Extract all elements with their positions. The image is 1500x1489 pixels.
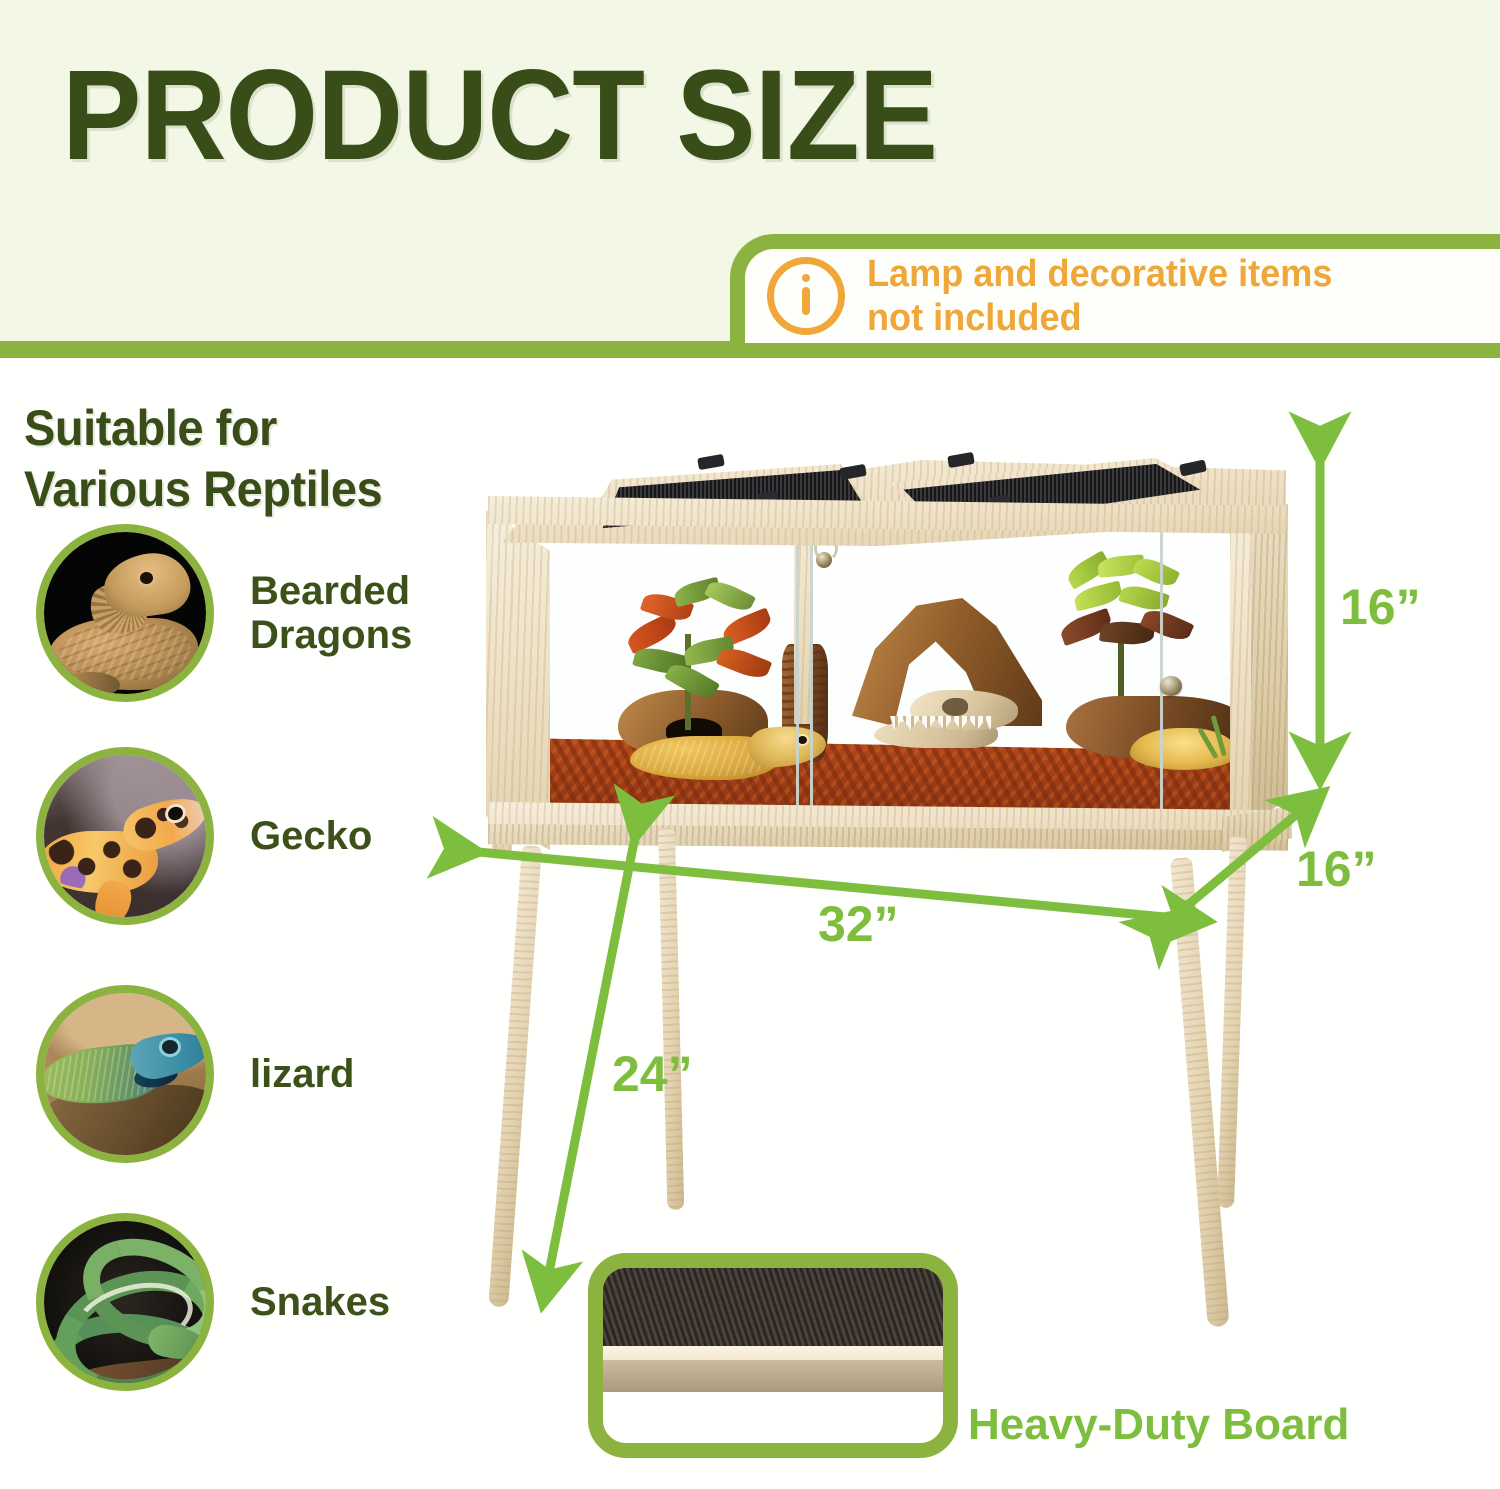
lizard-photo [36,985,214,1163]
not-included-notice: Lamp and decorative items not included [730,234,1500,358]
leg [488,845,542,1307]
artificial-plant-orange-green [622,578,772,698]
door-knob[interactable] [1160,676,1182,696]
glass-edge [796,518,799,828]
heavy-duty-board-caption: Heavy-Duty Board [968,1400,1349,1450]
hinge-icon [697,454,725,470]
info-circle-icon [767,257,845,335]
board-ribbed-surface [601,1266,947,1348]
gecko-photo [36,747,214,925]
reptile-label: Snakes [250,1280,390,1324]
leg [1217,836,1247,1208]
reptile-label: Gecko [250,814,372,858]
heavy-duty-board-inset [588,1253,958,1458]
dinosaur-skull-ornament [868,690,1018,752]
reptile-label: lizard [250,1052,354,1096]
bearded-dragon-photo [36,524,214,702]
list-item: Snakes [36,1213,476,1391]
product-photo-terrarium [470,438,1300,1318]
board-thickness-edge [601,1360,947,1392]
right-post [1230,510,1251,840]
artificial-plant-bright-green [1056,556,1196,680]
header-divider-left [0,341,748,358]
page-title: PRODUCT SIZE [62,52,1364,180]
list-item: lizard [36,985,476,1163]
door-knob[interactable] [816,552,832,568]
dimension-label-stand-height: 24” [612,1045,693,1103]
glass-edge [1160,522,1163,826]
reptile-label: Bearded Dragons [250,569,412,657]
dimension-label-height: 16” [1340,578,1421,636]
suitable-for-heading: Suitable for Various Reptiles [24,398,466,520]
not-included-text: Lamp and decorative items not included [867,252,1332,341]
base-rim [488,824,1288,870]
dimension-label-width: 32” [818,895,899,953]
glass-edge [810,524,813,824]
dimension-label-depth: 16” [1296,840,1377,898]
list-item: Bearded Dragons [36,524,476,702]
leg [658,828,684,1210]
snake-photo [36,1213,214,1391]
list-item: Gecko [36,747,476,925]
